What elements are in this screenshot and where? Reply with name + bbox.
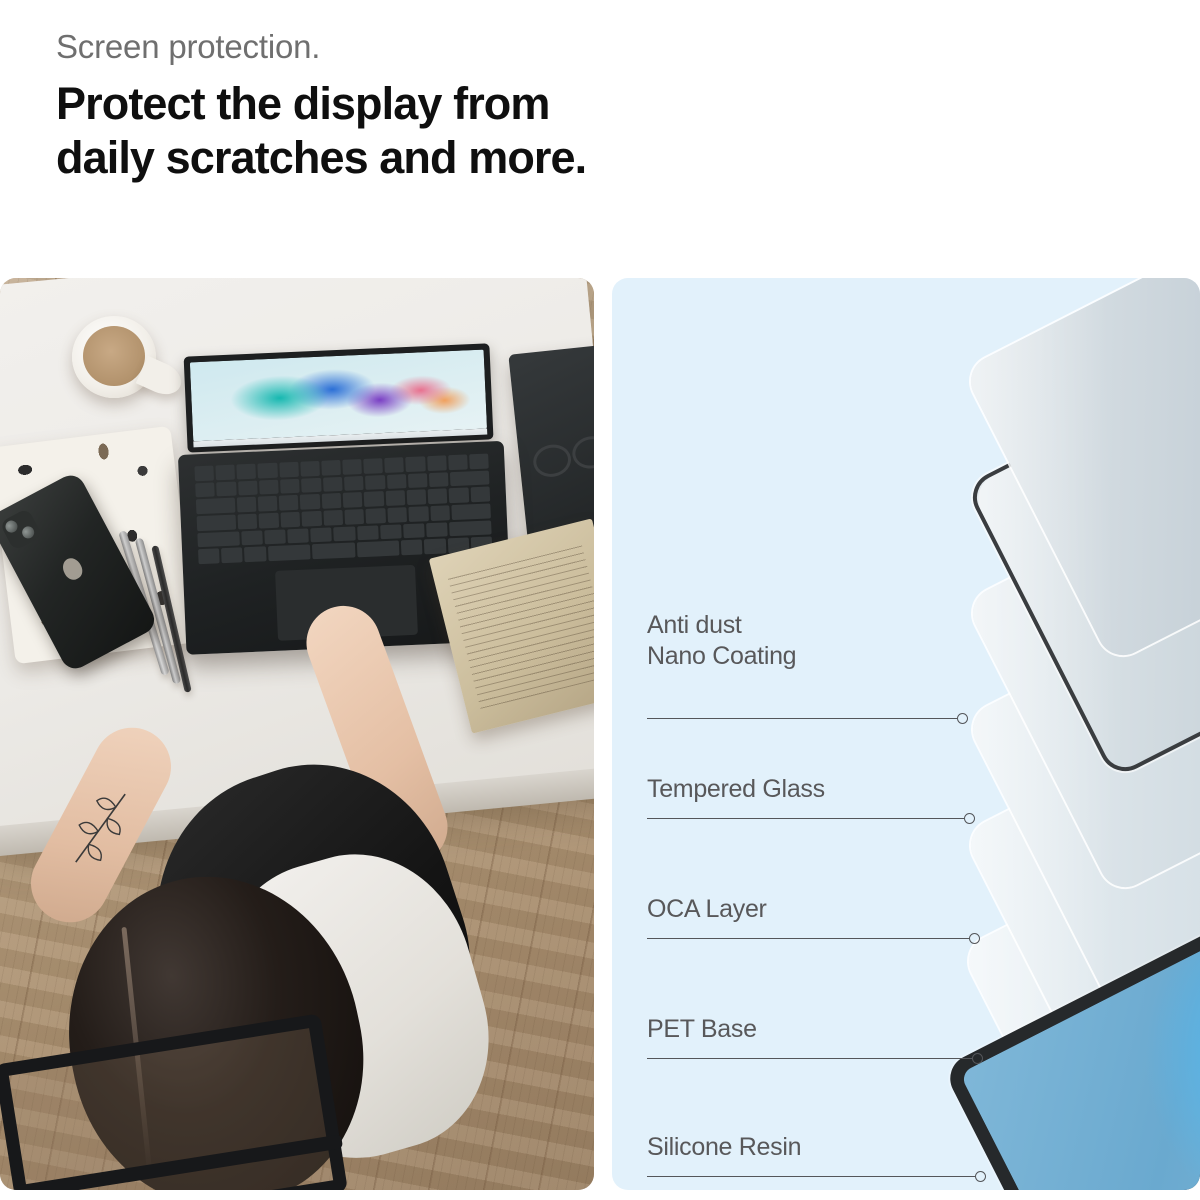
page-header: Screen protection. Protect the display f… [56, 26, 816, 185]
layer-diagram-panel: Anti dust Nano Coating Tempered Glass OC… [612, 278, 1200, 1190]
callout-pet-base: PET Base [647, 1014, 757, 1045]
leader-line [647, 1058, 972, 1059]
callout-label: Anti dust Nano Coating [647, 610, 796, 671]
callout-label: OCA Layer [647, 894, 767, 925]
callout-silicone-resin: Silicone Resin [647, 1132, 801, 1163]
laptop-wallpaper [190, 350, 487, 442]
headline-line-2: daily scratches and more. [56, 131, 816, 185]
leader-line [647, 938, 969, 939]
eyebrow-text: Screen protection. [56, 26, 816, 67]
leader-line [647, 1176, 975, 1177]
leader-line [647, 718, 957, 719]
leader-endpoint-icon [957, 713, 968, 724]
callout-label: PET Base [647, 1014, 757, 1045]
leader-endpoint-icon [972, 1053, 983, 1064]
content-panels: Anti dust Nano Coating Tempered Glass OC… [0, 278, 1200, 1190]
page-title: Protect the display from daily scratches… [56, 77, 816, 185]
laptop-screen [184, 343, 494, 452]
callout-anti-dust-nano-coating: Anti dust Nano Coating [647, 610, 796, 671]
callout-tempered-glass: Tempered Glass [647, 774, 825, 805]
phone-logo [59, 555, 85, 583]
leader-line [647, 818, 964, 819]
leader-endpoint-icon [969, 933, 980, 944]
callout-label: Silicone Resin [647, 1132, 801, 1163]
phone-camera-module [0, 508, 43, 551]
leader-endpoint-icon [975, 1171, 986, 1182]
laptop-keyboard [194, 453, 492, 564]
lifestyle-photo-panel [0, 278, 594, 1190]
callout-label: Tempered Glass [647, 774, 825, 805]
leaf-tattoo-icon [51, 774, 149, 882]
callout-oca-layer: OCA Layer [647, 894, 767, 925]
layer-callouts: Anti dust Nano Coating Tempered Glass OC… [612, 278, 1200, 1190]
headline-line-1: Protect the display from [56, 77, 816, 131]
woman-typing [40, 708, 510, 1190]
leader-endpoint-icon [964, 813, 975, 824]
